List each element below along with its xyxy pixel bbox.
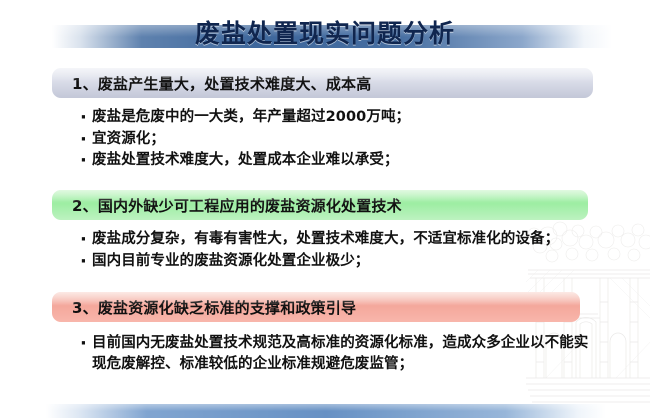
list-item: 废盐是危废中的一大类，年产量超过2000万吨； (80, 107, 593, 128)
section-3: 3、废盐资源化缺乏标准的支撑和政策引导 目前国内无废盐处置技术规范及高标准的资源… (52, 292, 580, 375)
list-item: 废盐处置技术难度大，处置成本企业难以承受； (80, 150, 593, 171)
section-2-bullets: 废盐成分复杂，有毒有害性大，处置技术难度大，不适宜标准化的设备； 国内目前专业的… (52, 220, 588, 271)
section-3-header: 3、废盐资源化缺乏标准的支撑和政策引导 (52, 292, 580, 322)
section-1: 1、废盐产生量大，处置技术难度大、成本高 废盐是危废中的一大类，年产量超过200… (52, 68, 593, 172)
bottom-gradient-bar (46, 404, 606, 418)
section-1-bullets: 废盐是危废中的一大类，年产量超过2000万吨； 宜资源化； 废盐处置技术难度大，… (52, 98, 593, 171)
page-title: 废盐处置现实问题分析 (0, 14, 650, 50)
list-item: 国内目前专业的废盐资源化处置企业极少； (80, 251, 588, 272)
list-item: 宜资源化； (80, 129, 593, 150)
list-item: 目前国内无废盐处置技术规范及高标准的资源化标准，造成众多企业以不能实现危废解控、… (80, 333, 592, 374)
section-2: 2、国内外缺少可工程应用的废盐资源化处置技术 废盐成分复杂，有毒有害性大，处置技… (52, 190, 588, 272)
section-2-header: 2、国内外缺少可工程应用的废盐资源化处置技术 (52, 190, 588, 220)
section-3-bullets: 目前国内无废盐处置技术规范及高标准的资源化标准，造成众多企业以不能实现危废解控、… (52, 322, 580, 374)
section-1-header: 1、废盐产生量大，处置技术难度大、成本高 (52, 68, 593, 98)
slide-canvas: 废盐处置现实问题分析 1、废盐产生量大，处置技术难度大、成本高 废盐是危废中的一… (0, 0, 650, 418)
list-item: 废盐成分复杂，有毒有害性大，处置技术难度大，不适宜标准化的设备； (80, 229, 588, 250)
